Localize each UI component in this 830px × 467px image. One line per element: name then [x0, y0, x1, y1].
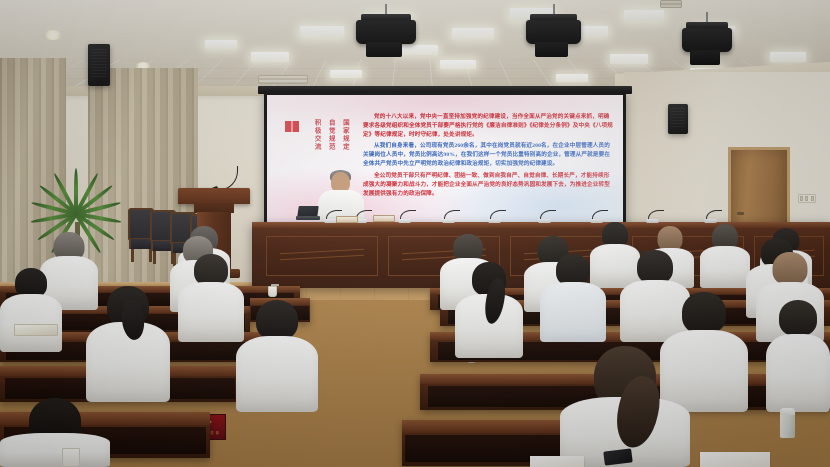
door-handle[interactable] — [737, 212, 744, 215]
table-microphone-base — [442, 219, 455, 223]
table-microphone-base — [646, 219, 659, 223]
audience-member — [766, 300, 830, 412]
torso — [0, 433, 110, 467]
wall-mounted-speaker — [88, 44, 110, 86]
ceiling-panel-light — [452, 28, 494, 39]
ceiling-panel-light — [556, 74, 588, 82]
slide-paragraph-2: 从我们自身来看，公司现有党员260余名，其中在岗党员就有近200名，在企业中层管… — [363, 142, 615, 168]
torso — [540, 282, 606, 342]
head — [773, 252, 808, 285]
audience-member-foreground — [0, 398, 110, 467]
ceiling-panel-light — [205, 40, 237, 49]
table-microphone-base — [488, 219, 501, 223]
ceiling-panel-light — [251, 52, 289, 62]
light-switch-panel[interactable] — [798, 194, 816, 203]
thermos-flask — [780, 408, 795, 438]
ceiling-panel-light — [440, 60, 476, 69]
slide-body-text: 党的十八大以来，党中央一直坚持加强党的纪律建设，当作全面从严治党的关键点来抓，明… — [363, 113, 615, 201]
document-paper — [530, 456, 584, 467]
head — [256, 300, 298, 340]
audience-member — [178, 254, 244, 342]
table-nameplate — [336, 216, 358, 223]
paper-cup — [268, 286, 277, 297]
audience-member — [0, 268, 62, 352]
ceiling-panel-light — [610, 54, 648, 64]
ceiling-panel-light — [770, 52, 806, 62]
table-microphone-base — [704, 219, 717, 223]
torso — [178, 282, 244, 342]
torso — [236, 336, 318, 412]
presenter-laptop — [296, 206, 320, 220]
table-front-panel — [266, 236, 378, 276]
ceiling-air-vent — [258, 75, 308, 84]
slide-paragraph-3: 全公司党员干部只有严明纪律、团结一致、做到自我自严、自觉自律、长期长严，才能持续… — [363, 172, 615, 198]
slide-vertical-title: 国家规定 自觉规范 积极交流 — [312, 119, 348, 151]
audience-member — [236, 300, 318, 412]
paper-cup — [62, 448, 80, 467]
head — [779, 300, 817, 336]
party-emblem-icon — [285, 121, 299, 132]
ceiling-speaker — [356, 14, 416, 60]
head — [682, 292, 726, 334]
table-nameplate — [373, 215, 395, 222]
ceiling-panel-light — [330, 70, 362, 78]
slide-paragraph-1: 党的十八大以来，党中央一直坚持加强党的纪律建设，当作全面从严治党的关键点来抓，明… — [363, 113, 615, 139]
torso — [700, 246, 750, 288]
audience-member — [700, 224, 750, 288]
audience-member — [540, 254, 606, 342]
slide-title-column-2: 自觉规范 — [326, 119, 334, 151]
ceiling-speaker — [526, 14, 581, 58]
ceiling-air-vent — [660, 0, 682, 8]
slide-title-column-3: 积极交流 — [312, 119, 320, 151]
torso — [766, 334, 830, 412]
document-paper — [700, 452, 770, 467]
ceiling-panel-light — [624, 10, 664, 21]
torso — [0, 294, 62, 352]
head — [637, 250, 673, 284]
notebook — [14, 324, 58, 336]
ceiling-panel-light — [300, 26, 344, 38]
wall-mounted-speaker — [668, 104, 688, 134]
table-microphone-base — [538, 219, 551, 223]
slide-title-column-1: 国家规定 — [340, 119, 348, 151]
ceiling-speaker — [682, 22, 732, 64]
conference-room-photo: 国家规定 自觉规范 积极交流 党的十八大以来，党中央一直坚持加强党的纪律建设，当… — [0, 0, 830, 467]
recessed-downlight — [44, 30, 62, 40]
table-microphone-base — [398, 219, 411, 223]
